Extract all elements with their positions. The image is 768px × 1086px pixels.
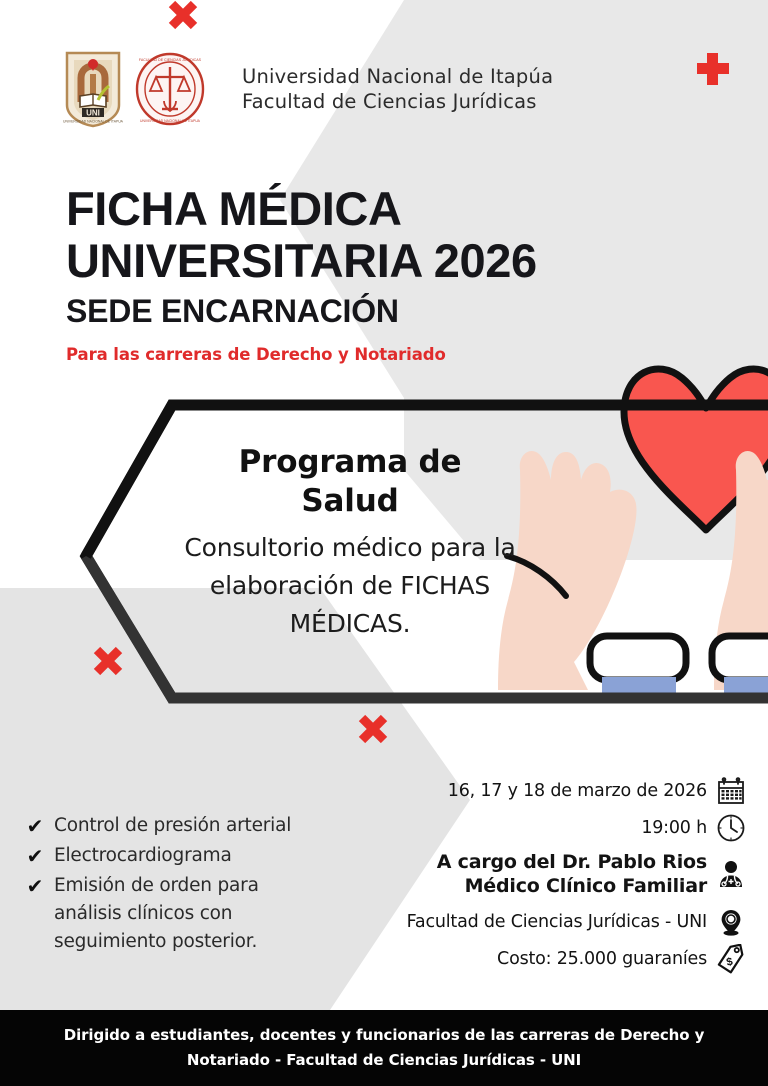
svg-text:UNI: UNI — [86, 109, 100, 118]
detail-row-date: 16, 17 y 18 de marzo de 2026 — [326, 776, 746, 806]
speaker-line-2: Médico Clínico Familiar — [465, 875, 707, 897]
title-careers: Para las carreras de Derecho y Notariado — [66, 343, 537, 367]
event-venue: Facultad de Ciencias Jurídicas - UNI — [407, 911, 707, 934]
event-speaker: A cargo del Dr. Pablo Rios Médico Clínic… — [437, 850, 707, 898]
faculty-circular-seal: FACULTAD DE CIENCIAS JURIDICAS UNIVERSID… — [134, 51, 206, 127]
event-time: 19:00 h — [641, 817, 707, 840]
event-date: 16, 17 y 18 de marzo de 2026 — [448, 780, 707, 803]
right-cuff-white — [712, 636, 768, 680]
hexagon-text-block: Programa de Salud Consultorio médico par… — [150, 443, 550, 643]
svg-text:$: $ — [725, 956, 733, 969]
doctor-icon — [716, 859, 746, 889]
university-line-2: Facultad de Ciencias Jurídicas — [242, 89, 553, 114]
left-cuff-white — [590, 636, 686, 680]
uni-shield-seal: UNI UNIVERSIDAD NACIONAL DE ITAPUA — [62, 50, 124, 128]
footer-line-2: Notariado - Facultad de Ciencias Jurídic… — [187, 1051, 581, 1069]
title-line-2: UNIVERSITARIA 2026 — [66, 235, 537, 287]
event-details: 16, 17 y 18 de marzo de 2026 — [326, 776, 746, 981]
price-tag-icon: $ — [716, 944, 746, 974]
checklist-item-line-2: análisis clínicos con — [54, 903, 232, 924]
poster-header: UNI UNIVERSIDAD NACIONAL DE ITAPUA FACUL… — [62, 50, 553, 128]
check-icon: ✔ — [26, 842, 44, 870]
title-sede: SEDE ENCARNACIÓN — [66, 290, 537, 332]
title-line-1: FICHA MÉDICA — [66, 183, 537, 235]
location-pin-icon — [716, 907, 746, 937]
footer-text: Dirigido a estudiantes, docentes y funci… — [54, 1023, 714, 1073]
calendar-icon — [716, 776, 746, 806]
poster-canvas: UNI UNIVERSIDAD NACIONAL DE ITAPUA FACUL… — [0, 0, 768, 1086]
speaker-line-1: A cargo del Dr. Pablo Rios — [437, 851, 707, 873]
x-mark-top — [172, 4, 194, 26]
university-name: Universidad Nacional de Itapúa Facultad … — [242, 64, 553, 114]
check-icon: ✔ — [26, 872, 44, 900]
detail-row-venue: Facultad de Ciencias Jurídicas - UNI — [326, 907, 746, 937]
program-heading-line-1: Programa de — [150, 443, 550, 482]
checklist-item-line-1: Emisión de orden para — [54, 875, 259, 896]
title-block: FICHA MÉDICA UNIVERSITARIA 2026 SEDE ENC… — [66, 183, 537, 367]
footer-line-1: Dirigido a estudiantes, docentes y funci… — [64, 1026, 705, 1044]
checklist-item-label: Electrocardiograma — [54, 842, 232, 870]
list-item: ✔ Electrocardiograma — [26, 842, 346, 870]
clock-icon — [716, 813, 746, 843]
check-icon: ✔ — [26, 812, 44, 840]
list-item: ✔ Control de presión arterial — [26, 812, 346, 840]
event-cost: Costo: 25.000 guaraníes — [497, 948, 707, 971]
checklist-item-label: Emisión de orden para análisis clínicos … — [54, 872, 259, 956]
list-item: ✔ Emisión de orden para análisis clínico… — [26, 872, 346, 956]
program-heading-line-2: Salud — [150, 482, 550, 521]
checklist-item-label: Control de presión arterial — [54, 812, 291, 840]
svg-text:UNIVERSIDAD NACIONAL DE ITAPUA: UNIVERSIDAD NACIONAL DE ITAPUA — [63, 120, 124, 124]
program-body-line-2: elaboración de FICHAS — [150, 567, 550, 605]
poster-footer: Dirigido a estudiantes, docentes y funci… — [0, 1010, 768, 1086]
university-line-1: Universidad Nacional de Itapúa — [242, 64, 553, 89]
svg-text:UNIVERSIDAD NACIONAL DE ITAPUA: UNIVERSIDAD NACIONAL DE ITAPUA — [140, 119, 201, 123]
checklist-item-line-3: seguimiento posterior. — [54, 931, 257, 952]
detail-row-time: 19:00 h — [326, 813, 746, 843]
program-body-line-1: Consultorio médico para la — [150, 529, 550, 567]
svg-text:FACULTAD DE CIENCIAS JURIDICAS: FACULTAD DE CIENCIAS JURIDICAS — [139, 58, 202, 62]
detail-row-speaker: A cargo del Dr. Pablo Rios Médico Clínic… — [326, 850, 746, 898]
detail-row-cost: Costo: 25.000 guaraníes $ — [326, 944, 746, 974]
program-body-line-3: MÉDICAS. — [150, 605, 550, 643]
services-checklist: ✔ Control de presión arterial ✔ Electroc… — [26, 812, 346, 958]
